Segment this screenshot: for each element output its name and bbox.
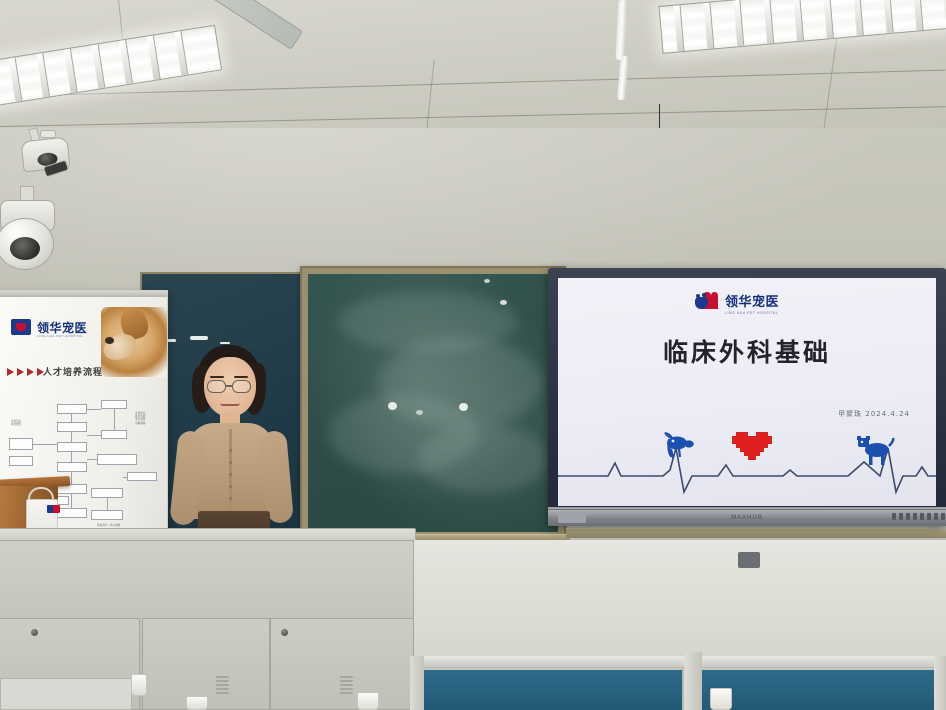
camera-lens-icon bbox=[10, 237, 40, 260]
cup bbox=[357, 692, 379, 710]
cup bbox=[186, 696, 208, 710]
student-desk-panel bbox=[424, 668, 682, 710]
desk-post bbox=[684, 652, 702, 710]
desk-post bbox=[934, 656, 946, 710]
dog-icon bbox=[856, 436, 896, 468]
student-desk-panel bbox=[702, 668, 934, 710]
cabinet-lock-icon[interactable] bbox=[31, 629, 38, 636]
banner-headline: 人才培养流程 bbox=[43, 365, 103, 378]
display-ports[interactable] bbox=[892, 513, 945, 520]
cabinet-vent bbox=[216, 676, 229, 694]
front-equipment-box bbox=[0, 678, 132, 710]
camera-mount bbox=[40, 130, 56, 138]
wall-bracket bbox=[738, 552, 760, 568]
presenter-eyebrow bbox=[210, 376, 224, 378]
banner-logo-icon bbox=[11, 319, 31, 335]
display-screen[interactable]: 领华宠医 LING HUA PET HOSPITAL 临床外科基础 甲聚珠 20… bbox=[558, 278, 936, 506]
chalkboard-main-panel bbox=[308, 274, 558, 532]
desk-rail bbox=[414, 656, 946, 667]
presenter bbox=[170, 345, 306, 545]
glasses-lens bbox=[232, 380, 251, 393]
cat-icon bbox=[659, 432, 697, 466]
banner-arrow-markers bbox=[7, 368, 44, 376]
slide-title: 临床外科基础 bbox=[558, 333, 936, 369]
cup bbox=[131, 674, 147, 696]
cabinet-lock-icon[interactable] bbox=[281, 629, 288, 636]
banner-logo-text-en: LING HUA PET HOSPITAL bbox=[37, 334, 84, 338]
cabinet-door[interactable] bbox=[270, 618, 414, 710]
display-brand-label: MAXHUB bbox=[731, 515, 763, 521]
glasses-bridge bbox=[226, 385, 232, 387]
classroom-photo-scene: 领华宠医 LING HUA PET HOSPITAL 临床外科基础 甲聚珠 20… bbox=[0, 0, 946, 710]
pixel-heart-icon bbox=[730, 430, 778, 468]
paw-heart-logo-icon bbox=[695, 294, 721, 312]
display-io-panel[interactable] bbox=[558, 513, 586, 523]
tote-bag-logo bbox=[47, 505, 60, 513]
dog-nose bbox=[105, 337, 114, 344]
cup bbox=[710, 688, 732, 710]
presentation-slide: 领华宠医 LING HUA PET HOSPITAL 临床外科基础 甲聚珠 20… bbox=[558, 278, 936, 506]
desk-post bbox=[410, 656, 424, 710]
slide-logo: 领华宠医 LING HUA PET HOSPITAL bbox=[695, 291, 779, 315]
cabinet-vent bbox=[340, 676, 353, 694]
presenter-mouth bbox=[220, 403, 240, 406]
front-wall-panel bbox=[414, 540, 946, 658]
cardigan-placket bbox=[229, 429, 232, 515]
slide-logo-text-en: LING HUA PET HOSPITAL bbox=[725, 311, 778, 315]
chalk-tray bbox=[566, 528, 946, 538]
display-chin: MAXHUB bbox=[548, 510, 946, 526]
ecg-graphic bbox=[558, 418, 936, 496]
presenter-eyebrow bbox=[234, 376, 248, 378]
banner-top-rail bbox=[0, 291, 167, 297]
slide-logo-text-cn: 领华宠医 bbox=[725, 291, 779, 310]
glasses-lens bbox=[207, 380, 226, 393]
smart-display[interactable]: 领华宠医 LING HUA PET HOSPITAL 临床外科基础 甲聚珠 20… bbox=[548, 268, 946, 526]
